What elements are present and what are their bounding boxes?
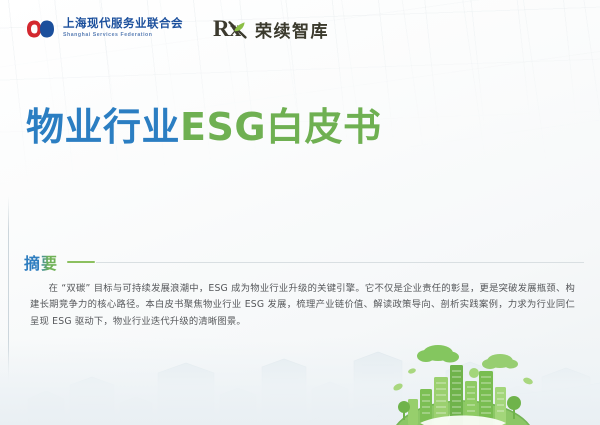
title-segment-green: ESG白皮书 [180,105,382,149]
title-segment-blue: 物业行业 [26,105,180,149]
abstract-body: 在 “双碳” 目标与可持续发展浪潮中，ESG 成为物业行业升级的关键引擎。它不仅… [30,281,575,330]
cover-page: 上海现代服务业联合会 Shanghai Services Federation … [0,0,600,425]
rongxu-chinese-name: 荣续智库 [255,17,329,42]
green-eco-city-globe-icon [368,337,558,425]
abstract-paragraph: 在 “双碳” 目标与可持续发展浪潮中，ESG 成为物业行业升级的关键引擎。它不仅… [30,281,575,330]
ssf-infinity-mark-icon [26,18,56,40]
abstract-accent-dash [67,261,95,264]
abstract-heading-row: 摘要 [24,250,584,274]
bottom-illustration [0,337,600,425]
ssf-english-name: Shanghai Services Federation [63,33,183,38]
ssf-chinese-name: 上海现代服务业联合会 [63,19,183,31]
abstract-horizontal-rule [96,262,584,263]
cover-title: 物业行业ESG白皮书 [26,108,382,148]
rx-leaf-x-icon [228,20,247,39]
logo-shanghai-services-federation: 上海现代服务业联合会 Shanghai Services Federation [26,18,183,40]
abstract-heading: 摘要 [24,250,58,274]
logo-rongxu-think-tank: Rx 荣续智库 [213,17,329,42]
rx-monogram-icon: Rx [213,17,247,41]
cover-header: 上海现代服务业联合会 Shanghai Services Federation … [0,0,600,58]
